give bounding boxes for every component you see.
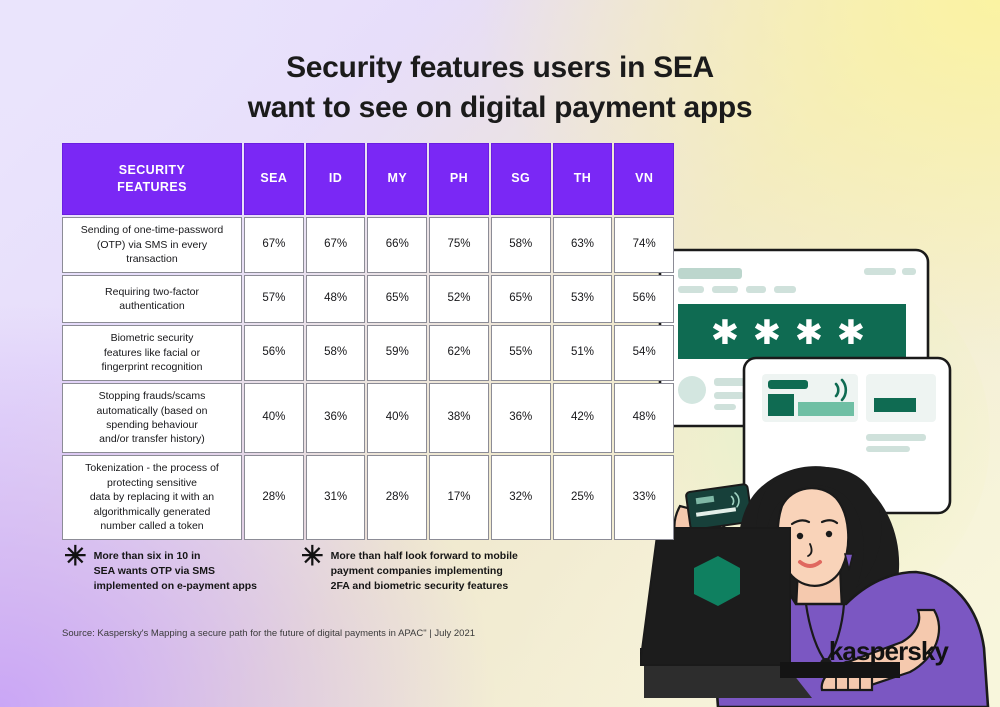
footnote-line: More than half look forward to mobile xyxy=(331,549,518,564)
value-cell: 28% xyxy=(244,455,304,540)
value-cell: 56% xyxy=(244,325,304,381)
header-feature-line2: FEATURES xyxy=(117,179,187,196)
feature-cell: Biometric security features like facial … xyxy=(62,325,242,381)
value-cell: 48% xyxy=(306,275,366,323)
value-cell: 17% xyxy=(429,455,489,540)
value-cell: 36% xyxy=(491,383,551,453)
feature-cell: Sending of one-time-password (OTP) via S… xyxy=(62,217,242,273)
feature-line: spending behaviour xyxy=(97,418,208,432)
header-cell-sea: SEA xyxy=(244,143,304,215)
kaspersky-logo: kaspersky xyxy=(829,636,948,667)
security-features-table: SECURITY FEATURES SEA ID MY PH SG TH VN … xyxy=(62,143,674,542)
value-cell: 74% xyxy=(614,217,674,273)
feature-line: protecting sensitive xyxy=(85,476,219,490)
feature-line: number called a token xyxy=(85,519,219,533)
feature-line: authentication xyxy=(105,299,199,313)
value-cell: 67% xyxy=(306,217,366,273)
footnote-line: More than six in 10 in xyxy=(94,549,257,564)
table-row: Biometric security features like facial … xyxy=(62,325,674,381)
value-cell: 58% xyxy=(306,325,366,381)
value-cell: 32% xyxy=(491,455,551,540)
value-cell: 75% xyxy=(429,217,489,273)
infographic-canvas: Security features users in SEA want to s… xyxy=(0,0,1000,707)
footnote-text: More than half look forward to mobile pa… xyxy=(331,546,518,595)
page-title-line2: want to see on digital payment apps xyxy=(0,88,1000,128)
page-title: Security features users in SEA want to s… xyxy=(0,48,1000,127)
value-cell: 40% xyxy=(367,383,427,453)
value-cell: 33% xyxy=(614,455,674,540)
footnote-text: More than six in 10 in SEA wants OTP via… xyxy=(94,546,257,595)
feature-line: Tokenization - the process of xyxy=(85,461,219,475)
feature-line: Stopping frauds/scams xyxy=(97,389,208,403)
feature-cell: Requiring two-factor authentication xyxy=(62,275,242,323)
svg-text:✱: ✱ xyxy=(795,313,824,353)
value-cell: 42% xyxy=(553,383,613,453)
asterisk-icon: ✳ xyxy=(301,546,324,567)
value-cell: 62% xyxy=(429,325,489,381)
value-cell: 28% xyxy=(367,455,427,540)
value-cell: 36% xyxy=(306,383,366,453)
footnotes: ✳ More than six in 10 in SEA wants OTP v… xyxy=(64,546,654,595)
asterisk-icon: ✳ xyxy=(64,546,87,567)
value-cell: 65% xyxy=(491,275,551,323)
table-row: Requiring two-factor authentication 57% … xyxy=(62,275,674,323)
value-cell: 57% xyxy=(244,275,304,323)
value-cell: 67% xyxy=(244,217,304,273)
value-cell: 40% xyxy=(244,383,304,453)
header-cell-vn: VN xyxy=(614,143,674,215)
feature-line: and/or transfer history) xyxy=(97,432,208,446)
value-cell: 65% xyxy=(367,275,427,323)
feature-line: data by replacing it with an xyxy=(85,490,219,504)
footnote-2: ✳ More than half look forward to mobile … xyxy=(301,546,518,595)
value-cell: 48% xyxy=(614,383,674,453)
feature-line: Biometric security xyxy=(102,331,203,345)
footnote-line: SEA wants OTP via SMS xyxy=(94,564,257,579)
header-feature-line1: SECURITY xyxy=(117,162,187,179)
feature-line: algorithmically generated xyxy=(85,505,219,519)
value-cell: 31% xyxy=(306,455,366,540)
footnote-line: implemented on e-payment apps xyxy=(94,579,257,594)
footnote-line: 2FA and biometric security features xyxy=(331,579,518,594)
table-header-row: SECURITY FEATURES SEA ID MY PH SG TH VN xyxy=(62,143,674,215)
value-cell: 38% xyxy=(429,383,489,453)
header-cell-security-features: SECURITY FEATURES xyxy=(62,143,242,215)
svg-text:✱: ✱ xyxy=(711,313,740,353)
value-cell: 54% xyxy=(614,325,674,381)
page-title-line1: Security features users in SEA xyxy=(286,51,714,84)
svg-text:✱: ✱ xyxy=(837,313,866,353)
value-cell: 52% xyxy=(429,275,489,323)
header-cell-id: ID xyxy=(306,143,366,215)
header-cell-ph: PH xyxy=(429,143,489,215)
value-cell: 63% xyxy=(553,217,613,273)
value-cell: 53% xyxy=(553,275,613,323)
value-cell: 56% xyxy=(614,275,674,323)
svg-text:✱: ✱ xyxy=(753,313,782,353)
header-cell-my: MY xyxy=(367,143,427,215)
feature-cell: Tokenization - the process of protecting… xyxy=(62,455,242,540)
feature-line: (OTP) via SMS in every xyxy=(81,238,223,252)
footnote-line: payment companies implementing xyxy=(331,564,518,579)
feature-line: Sending of one-time-password xyxy=(81,223,223,237)
footnote-1: ✳ More than six in 10 in SEA wants OTP v… xyxy=(64,546,257,595)
table-row: Sending of one-time-password (OTP) via S… xyxy=(62,217,674,273)
header-cell-th: TH xyxy=(553,143,613,215)
feature-line: fingerprint recognition xyxy=(102,360,203,374)
value-cell: 51% xyxy=(553,325,613,381)
feature-line: transaction xyxy=(81,252,223,266)
value-cell: 58% xyxy=(491,217,551,273)
value-cell: 59% xyxy=(367,325,427,381)
header-cell-sg: SG xyxy=(491,143,551,215)
table-row: Stopping frauds/scams automatically (bas… xyxy=(62,383,674,453)
value-cell: 66% xyxy=(367,217,427,273)
source-line: Source: Kaspersky's Mapping a secure pat… xyxy=(62,628,475,639)
table-row: Tokenization - the process of protecting… xyxy=(62,455,674,540)
feature-line: features like facial or xyxy=(102,346,203,360)
value-cell: 25% xyxy=(553,455,613,540)
feature-line: Requiring two-factor xyxy=(105,285,199,299)
value-cell: 55% xyxy=(491,325,551,381)
feature-line: automatically (based on xyxy=(97,404,208,418)
feature-cell: Stopping frauds/scams automatically (bas… xyxy=(62,383,242,453)
